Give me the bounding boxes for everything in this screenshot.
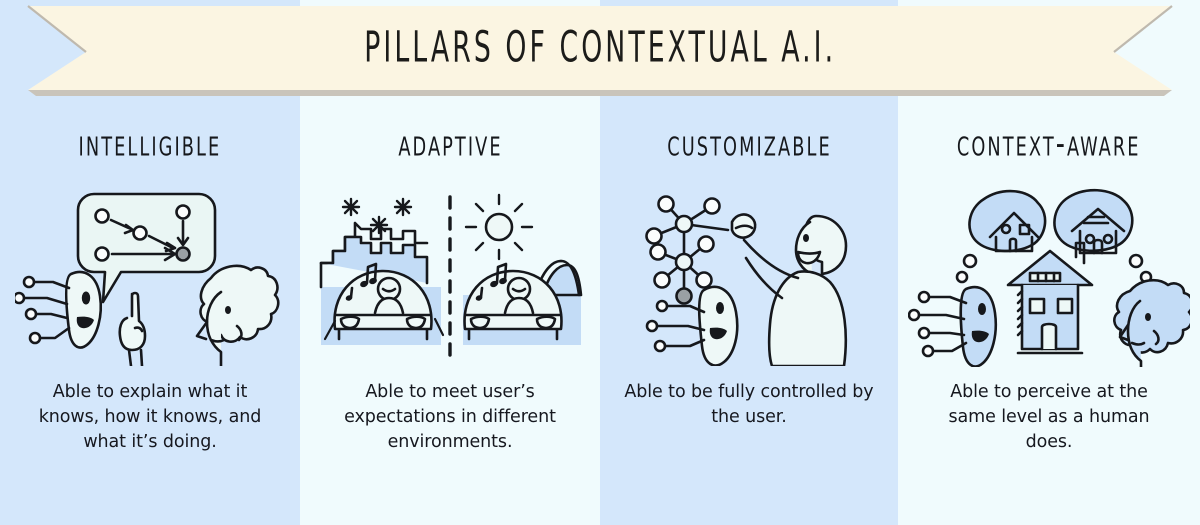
ai-mask-icon (909, 287, 996, 366)
pillar-column-intelligible: INTELLIGIBLE (0, 0, 300, 525)
illustration-ai-and-human-thinking-of-house (899, 186, 1199, 366)
human-head-icon (1114, 280, 1190, 367)
pillar-caption-intelligible: Able to explain what it knows, how it kn… (25, 380, 275, 455)
pointing-hand-icon (120, 293, 145, 366)
snowflake-icons (343, 199, 411, 233)
pillar-caption-context-aware: Able to perceive at the same level as a … (924, 380, 1174, 455)
pillar-title-customizable: CUSTOMIZABLE (667, 126, 831, 163)
pillar-column-adaptive: ADAPTIVE (300, 0, 600, 525)
pillar-column-context-aware: CONTEXT-AWARE (898, 0, 1200, 525)
pillar-columns: INTELLIGIBLE (0, 0, 1200, 525)
car-sun-icon (465, 264, 562, 339)
illustration-ai-mask-speech-bubble-human (0, 186, 300, 366)
illustration-two-cars-snow-and-sun (300, 186, 600, 366)
pillar-caption-adaptive: Able to meet user’s expectations in diff… (325, 380, 575, 455)
house-icon (1008, 243, 1092, 353)
pillar-column-customizable: CUSTOMIZABLE (600, 0, 898, 525)
person-icon (732, 215, 846, 366)
sun-icon (466, 195, 532, 259)
pillar-title-context-aware: CONTEXT-AWARE (957, 126, 1141, 163)
pillar-title-intelligible: INTELLIGIBLE (79, 126, 222, 163)
illustration-person-adjusting-node-network (599, 186, 899, 366)
infographic-root: INTELLIGIBLE (0, 0, 1200, 525)
ai-mask-icon (15, 272, 101, 347)
pillar-title-adaptive: ADAPTIVE (398, 126, 502, 163)
pillar-caption-customizable: Able to be fully controlled by the user. (624, 380, 874, 430)
human-head-icon (197, 266, 278, 366)
